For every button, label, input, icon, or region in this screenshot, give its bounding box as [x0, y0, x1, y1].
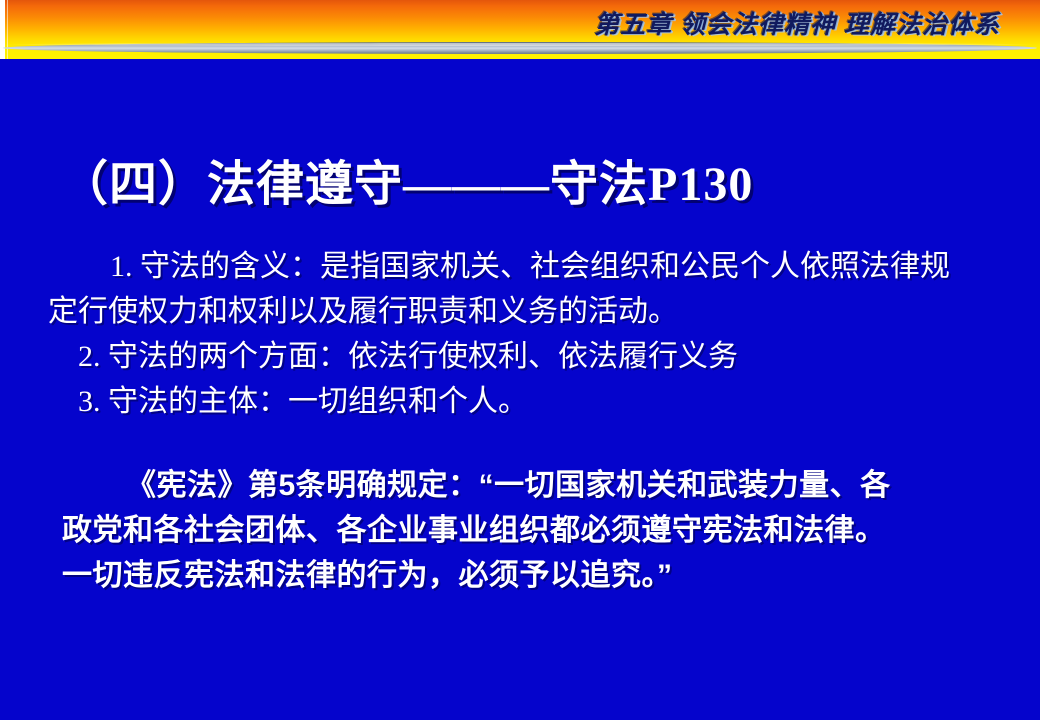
body-points: 1. 守法的含义：是指国家机关、社会组织和公民个人依照法律规定行使权力和权利以及… — [48, 244, 978, 424]
slide-header-banner: 第五章 领会法律精神 理解法治体系 — [0, 0, 1040, 59]
page-title: （四）法律遵守———守法P130 — [60, 144, 753, 214]
presentation-slide: 第五章 领会法律精神 理解法治体系 （四）法律遵守———守法P130 1. 守法… — [0, 0, 1040, 720]
constitution-quote: 《宪法》第5条明确规定：“一切国家机关和武装力量、各 政党和各社会团体、各企业事… — [62, 463, 982, 598]
body-point-1: 1. 守法的含义：是指国家机关、社会组织和公民个人依照法律规定行使权力和权利以及… — [48, 244, 978, 334]
quote-line-1: 《宪法》第5条明确规定：“一切国家机关和武装力量、各 — [62, 463, 982, 508]
body-point-2: 2. 守法的两个方面：依法行使权利、依法履行义务 — [48, 334, 978, 379]
header-left-rule — [7, 0, 8, 59]
header-left-margin-strip — [0, 0, 5, 59]
quote-line-3: 一切违反宪法和法律的行为，必须予以追究。” — [62, 553, 982, 598]
body-point-3: 3. 守法的主体：一切组织和个人。 — [48, 379, 978, 424]
slide-body: （四）法律遵守———守法P130 1. 守法的含义：是指国家机关、社会组织和公民… — [0, 59, 1040, 720]
chapter-title: 第五章 领会法律精神 理解法治体系 — [594, 5, 1000, 41]
quote-line-2: 政党和各社会团体、各企业事业组织都必须遵守宪法和法律。 — [62, 508, 982, 553]
header-silver-bar-gloss — [3, 43, 1037, 46]
